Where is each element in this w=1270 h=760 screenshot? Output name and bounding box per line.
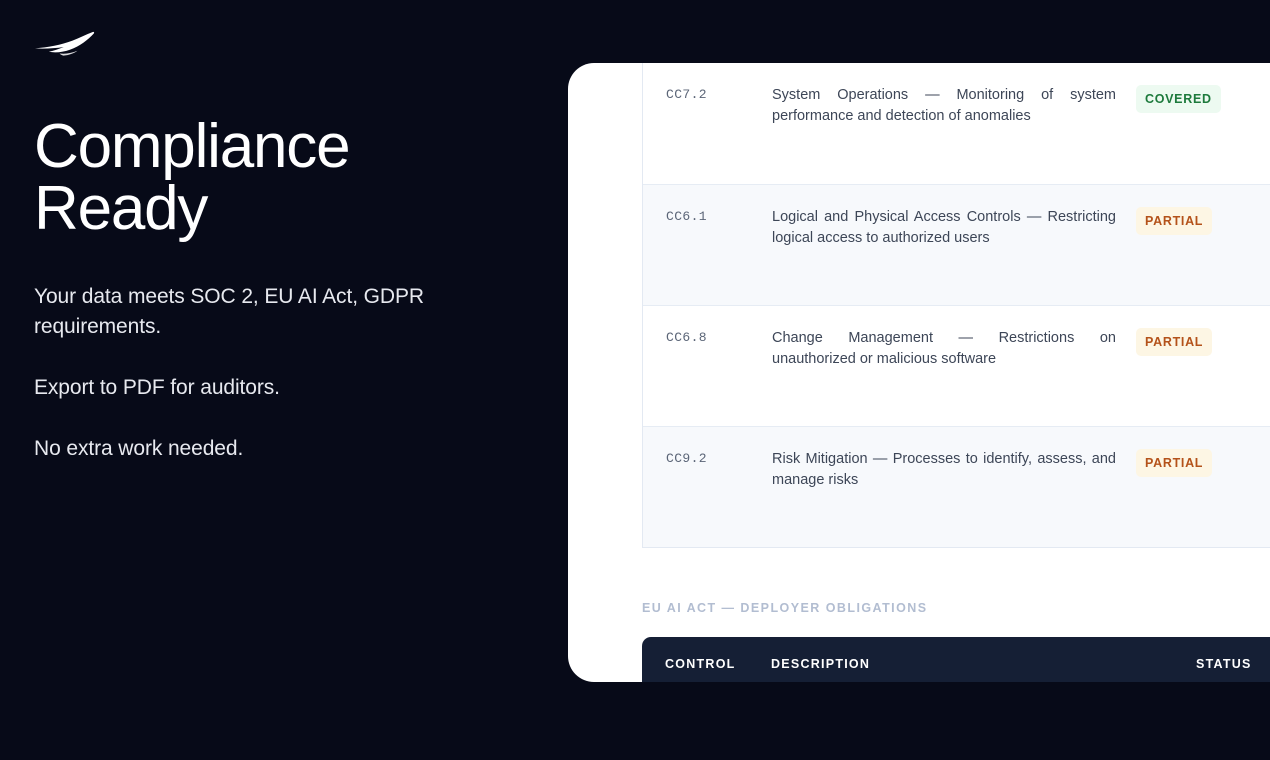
control-description: System Operations — Monitoring of system… (772, 85, 1126, 127)
control-description: Risk Mitigation — Processes to identify,… (772, 449, 1126, 491)
control-description: Change Management — Restrictions on unau… (772, 328, 1126, 370)
table-row[interactable]: CC7.2 System Operations — Monitoring of … (643, 63, 1270, 184)
hero-section: Compliance Ready Your data meets SOC 2, … (0, 0, 560, 760)
control-code: CC9.2 (643, 449, 772, 469)
table-row[interactable]: CC6.8 Change Management — Restrictions o… (643, 305, 1270, 426)
page-title: Compliance Ready (34, 116, 560, 240)
status-badge: PARTIAL (1136, 449, 1212, 477)
hero-paragraph-2: Export to PDF for auditors. (34, 373, 426, 403)
status-cell: PARTIAL (1126, 328, 1248, 356)
table-row[interactable]: CC6.1 Logical and Physical Access Contro… (643, 184, 1270, 305)
status-badge: PARTIAL (1136, 207, 1212, 235)
status-cell: PARTIAL (1126, 207, 1248, 235)
control-code: CC7.2 (643, 85, 772, 105)
status-badge: PARTIAL (1136, 328, 1212, 356)
hero-paragraph-3: No extra work needed. (34, 434, 426, 464)
status-cell: PARTIAL (1126, 449, 1248, 477)
swoosh-speedmark-logo (34, 30, 98, 60)
table-row[interactable]: CC9.2 Risk Mitigation — Processes to ide… (643, 426, 1270, 547)
eu-ai-act-table: CONTROL DESCRIPTION STATUS (642, 637, 1270, 682)
section-eyebrow-eu-ai-act: EU AI ACT — DEPLOYER OBLIGATIONS (642, 601, 1270, 615)
status-cell: COVERED (1126, 85, 1248, 113)
table-header-row: CONTROL DESCRIPTION STATUS (642, 637, 1270, 682)
soc2-controls-table: CC7.2 System Operations — Monitoring of … (642, 63, 1270, 548)
column-header-description[interactable]: DESCRIPTION (771, 657, 1186, 671)
status-badge: COVERED (1136, 85, 1221, 113)
control-code: CC6.1 (643, 207, 772, 227)
column-header-status[interactable]: STATUS (1186, 657, 1270, 671)
control-description: Logical and Physical Access Controls — R… (772, 207, 1126, 249)
panel-content: CC7.2 System Operations — Monitoring of … (642, 63, 1270, 682)
compliance-report-panel: CC7.2 System Operations — Monitoring of … (568, 63, 1270, 682)
column-header-control[interactable]: CONTROL (642, 657, 771, 671)
hero-paragraph-1: Your data meets SOC 2, EU AI Act, GDPR r… (34, 282, 426, 342)
control-code: CC6.8 (643, 328, 772, 348)
